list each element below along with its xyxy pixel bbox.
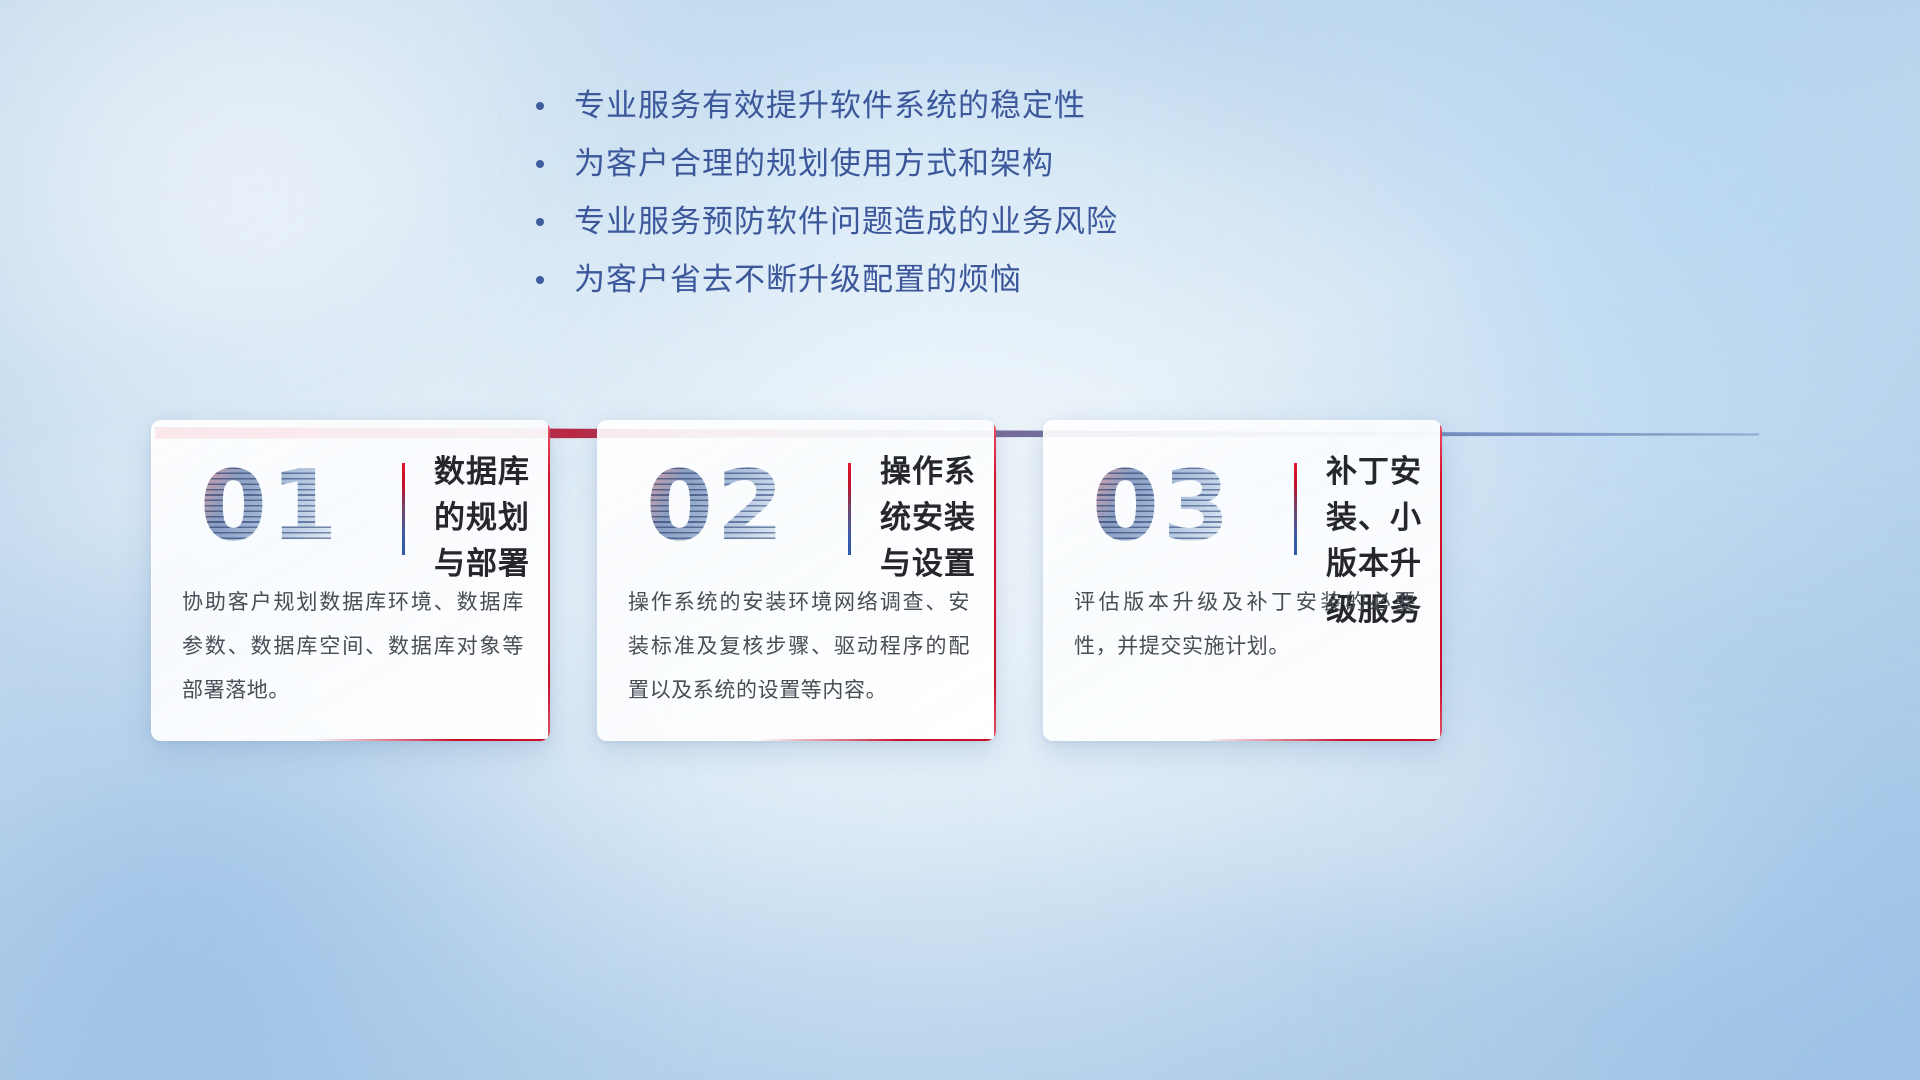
list-item: 为客户合理的规划使用方式和架构 (536, 144, 1296, 184)
card-number-watermark: 02 (624, 445, 834, 563)
bullet-text: 专业服务有效提升软件系统的稳定性 (574, 86, 1086, 126)
list-item: 为客户省去不断升级配置的烦恼 (536, 260, 1296, 300)
card-body-text: 协助客户规划数据库环境、数据库参数、数据库空间、数据库对象等部署落地。 (182, 581, 524, 713)
card-title: 数据库的规划与部署 (434, 449, 534, 587)
card-body-text: 操作系统的安装环境网络调查、安装标准及复核步骤、驱动程序的配置以及系统的设置等内… (628, 581, 970, 713)
card-body-text: 评估版本升级及补丁安装的必要性，并提交实施计划。 (1074, 581, 1416, 669)
list-item: 专业服务有效提升软件系统的稳定性 (536, 86, 1296, 126)
service-card-03[interactable]: 03 补丁安装、小版本升级服务 评估版本升级及补丁安装的必要性，并提交实施计划。 (1043, 420, 1442, 741)
bullet-dot-icon (536, 218, 544, 226)
bullet-text: 为客户省去不断升级配置的烦恼 (574, 260, 1022, 300)
service-card-02[interactable]: 02 操作系统安装与设置 操作系统的安装环境网络调查、安装标准及复核步骤、驱动程… (597, 420, 996, 741)
card-number-watermark: 01 (178, 445, 388, 563)
benefits-bullet-list: 专业服务有效提升软件系统的稳定性 为客户合理的规划使用方式和架构 专业服务预防软… (536, 86, 1296, 318)
list-item: 专业服务预防软件问题造成的业务风险 (536, 202, 1296, 242)
card-number-watermark: 03 (1070, 445, 1280, 563)
card-number-text: 02 (646, 451, 788, 561)
card-number-text: 01 (200, 451, 342, 561)
card-bottom-accent (757, 739, 996, 741)
card-accent-bar (1294, 463, 1297, 555)
bullet-text: 为客户合理的规划使用方式和架构 (574, 144, 1054, 184)
card-title: 操作系统安装与设置 (880, 449, 980, 587)
bullet-dot-icon (536, 276, 544, 284)
bullet-dot-icon (536, 160, 544, 168)
service-card-01[interactable]: 01 数据库的规划与部署 协助客户规划数据库环境、数据库参数、数据库空间、数据库… (151, 420, 550, 741)
card-bottom-accent (1203, 739, 1442, 741)
card-header: 03 补丁安装、小版本升级服务 (1044, 441, 1442, 561)
card-header: 02 操作系统安装与设置 (598, 441, 996, 561)
card-accent-bar (848, 463, 851, 555)
bullet-dot-icon (536, 102, 544, 110)
card-bottom-accent (311, 739, 550, 741)
bullet-text: 专业服务预防软件问题造成的业务风险 (574, 202, 1118, 242)
card-header: 01 数据库的规划与部署 (152, 441, 550, 561)
card-number-text: 03 (1092, 451, 1234, 561)
card-accent-bar (402, 463, 405, 555)
